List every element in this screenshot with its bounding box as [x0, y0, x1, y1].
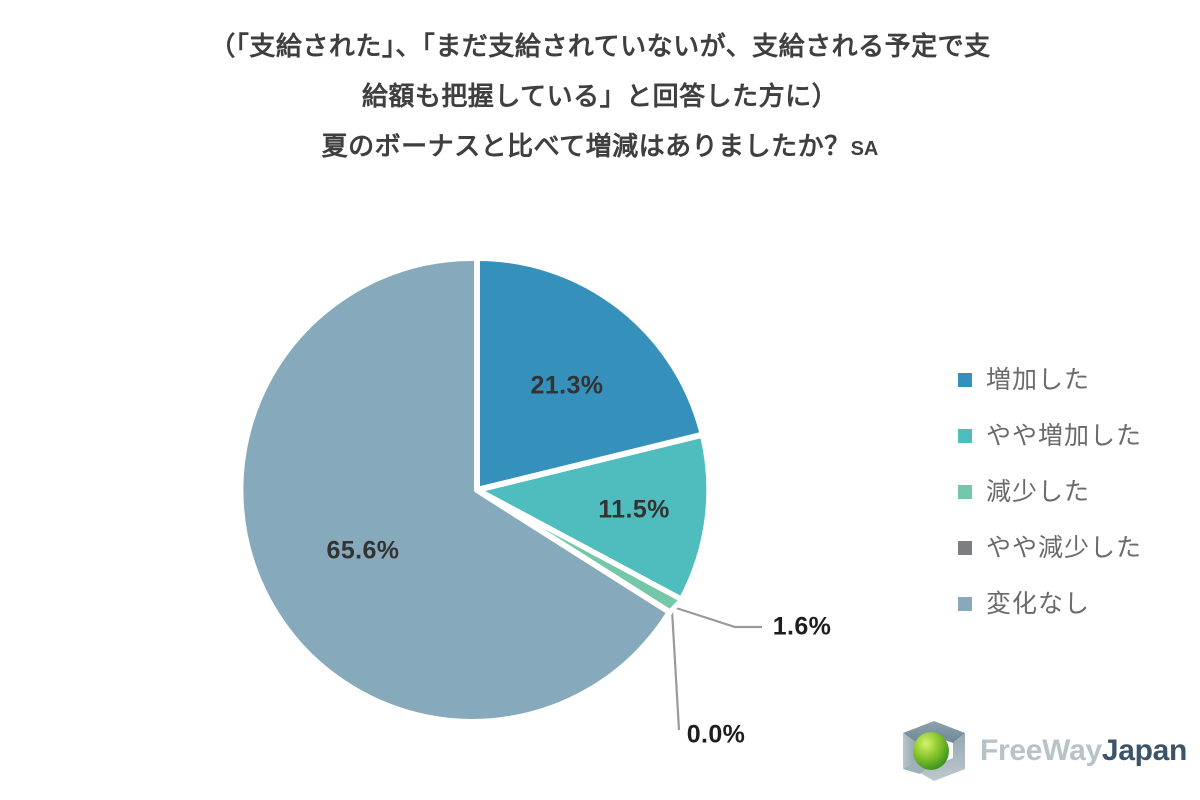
slice-value-slightly-decreased: 0.0% [687, 721, 746, 750]
legend-item-slightly-increased[interactable]: やや増加した [958, 408, 1198, 464]
legend-swatch-icon [958, 485, 972, 499]
legend-label: 減少した [986, 480, 1090, 505]
slice-value-decreased: 1.6% [773, 613, 832, 642]
legend-label: やや減少した [986, 536, 1142, 561]
legend-item-slightly-decreased[interactable]: やや減少した [958, 520, 1198, 576]
legend-swatch-icon [958, 541, 972, 555]
chart-legend: 増加した やや増加した 減少した やや減少した 変化なし [958, 352, 1198, 632]
legend-swatch-icon [958, 429, 972, 443]
slice-value-increased: 21.3% [531, 372, 604, 401]
leader-line-slice-4 [672, 610, 679, 730]
logo-wordmark: FreeWayJapan [980, 736, 1187, 766]
legend-item-decreased[interactable]: 減少した [958, 464, 1198, 520]
legend-label: 変化なし [986, 592, 1090, 617]
slice-value-no-change: 65.6% [327, 537, 400, 566]
freeway-japan-logo: FreeWayJapan [898, 716, 1168, 786]
legend-swatch-icon [958, 373, 972, 387]
legend-label: やや増加した [986, 424, 1142, 449]
legend-swatch-icon [958, 597, 972, 611]
logo-free-text: FreeWay [980, 734, 1102, 767]
freeway-hexagon-icon [898, 718, 970, 784]
pie-slices-group [240, 258, 709, 722]
slice-value-slightly-increased: 11.5% [598, 496, 670, 525]
logo-japan-text: Japan [1102, 734, 1187, 767]
legend-item-increased[interactable]: 増加した [958, 352, 1198, 408]
legend-item-no-change[interactable]: 変化なし [958, 576, 1198, 632]
legend-label: 増加した [986, 368, 1090, 393]
leader-line-slice-3 [673, 607, 762, 627]
